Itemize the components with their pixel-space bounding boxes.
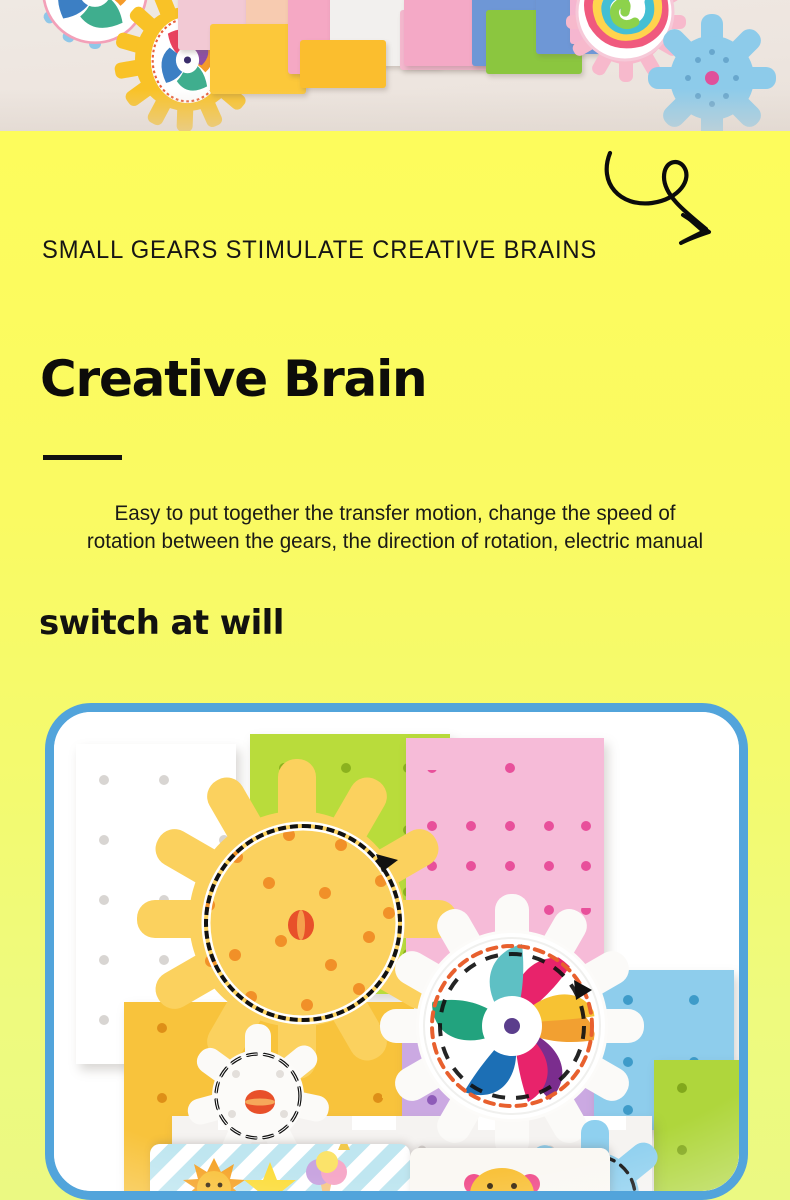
illustration-card-right <box>410 1148 610 1191</box>
promo-page: SMALL GEARS STIMULATE CREATIVE BRAINS Cr… <box>0 0 790 1200</box>
product-photo <box>54 712 739 1191</box>
curly-arrow-icon <box>588 139 753 264</box>
body-copy: Easy to put together the transfer motion… <box>39 499 751 555</box>
tagline-text: switch at will <box>39 603 284 643</box>
yellow-content-section: SMALL GEARS STIMULATE CREATIVE BRAINS Cr… <box>0 131 790 1200</box>
product-photo-card <box>45 703 748 1200</box>
pegboard-block <box>300 40 386 88</box>
product-photo-strip <box>0 0 790 131</box>
body-copy-line-2: rotation between the gears, the directio… <box>39 527 751 555</box>
illustration-card-left <box>150 1144 410 1191</box>
photo-shadow-gradient <box>0 89 790 131</box>
title-divider <box>43 455 122 460</box>
eyebrow-text: SMALL GEARS STIMULATE CREATIVE BRAINS <box>42 236 597 265</box>
page-title: Creative Brain <box>40 350 426 408</box>
product-photo-card-inner <box>54 712 739 1191</box>
body-copy-line-1: Easy to put together the transfer motion… <box>39 499 751 527</box>
